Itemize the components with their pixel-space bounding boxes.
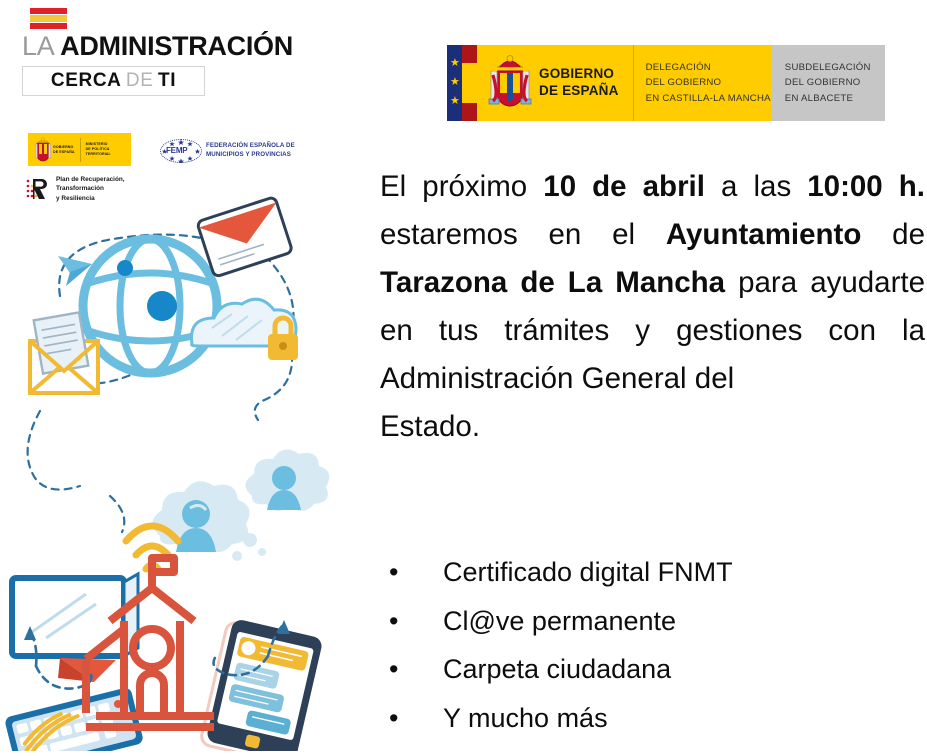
person-bubble-right-icon	[245, 450, 329, 511]
femp-stars-icon: FEMP	[160, 139, 202, 163]
campaign-title-heavy: ADMINISTRACIÓN	[60, 31, 293, 61]
banner-delegacion-text: DELEGACIÓN DEL GOBIERNO EN CASTILLA-LA M…	[646, 60, 771, 107]
tablet-chat-icon	[200, 617, 324, 751]
campaign-subtitle-ti: TI	[158, 70, 176, 92]
banner-delegacion-line1: DELEGACIÓN	[646, 60, 771, 76]
announcement-date: 10 de abril	[543, 170, 705, 203]
list-item: • Cl@ve permanente	[380, 597, 925, 646]
announcement-seg2: a las	[705, 170, 807, 203]
banner-gobierno-text: GOBIERNO DE ESPAÑA	[539, 66, 619, 100]
globe-icon	[83, 239, 217, 373]
femp-acronym: FEMP	[166, 146, 187, 155]
service-label: Certificado digital FNMT	[443, 557, 733, 587]
service-label: Y mucho más	[443, 703, 608, 733]
femp-text: FEDERACIÓN ESPAÑOLA DE MUNICIPIOS Y PROV…	[206, 142, 295, 160]
coat-of-arms-icon	[33, 137, 53, 162]
digital-administration-illustration	[0, 196, 340, 751]
banner-gobierno-panel: GOBIERNO DE ESPAÑA DELEGACIÓN DEL GOBIER…	[477, 45, 771, 121]
announcement-seg4: de	[861, 218, 925, 251]
banner-subdelegacion-text: SUBDELEGACIÓN DEL GOBIERNO EN ALBACETE	[785, 60, 871, 107]
eu-star-1: ★	[450, 59, 459, 68]
coat-of-arms-large-icon	[487, 55, 533, 111]
logo-gobierno-line2: DE ESPAÑA	[53, 150, 75, 155]
campaign-subtitle-box: CERCA DE TI	[22, 66, 205, 96]
spanish-flag-icon	[30, 8, 67, 29]
service-list: • Certificado digital FNMT • Cl@ve perma…	[380, 548, 925, 742]
bullet-icon: •	[389, 548, 398, 597]
spain-red-top	[462, 45, 477, 63]
flag-stripe-yellow	[30, 15, 67, 22]
banner-divider-1	[633, 45, 634, 121]
banner-gobierno-line1: GOBIERNO	[539, 66, 619, 83]
logo-gobierno-text: GOBIERNO DE ESPAÑA	[53, 145, 75, 155]
campaign-subtitle-cerca: CERCA	[51, 70, 122, 92]
person-bubble-left-icon	[152, 481, 249, 552]
logo-gobierno-line1: GOBIERNO	[53, 145, 75, 150]
campaign-title-light: LA	[22, 31, 53, 61]
announcement-text: El próximo 10 de abril a las 10:00 h. es…	[380, 163, 925, 451]
logo-femp: FEMP FEDERACIÓN ESPAÑOLA DE MUNICIPIOS Y…	[160, 138, 300, 164]
logo-ministerio-text: MINISTERIO DE POLÍTICA TERRITORIAL	[86, 142, 126, 157]
right-column: ★ ★ ★	[375, 0, 927, 751]
banner-subdelegacion-panel: SUBDELEGACIÓN DEL GOBIERNO EN ALBACETE	[771, 45, 885, 121]
cloud-lock-icon	[191, 299, 298, 360]
banner-subdelegacion-line1: SUBDELEGACIÓN	[785, 60, 871, 76]
bullet-icon: •	[389, 645, 398, 694]
banner-gobierno-line2: DE ESPAÑA	[539, 83, 619, 100]
announcement-seg1: El próximo	[380, 170, 543, 203]
announcement-time: 10:00 h.	[807, 170, 925, 203]
service-label: Cl@ve permanente	[443, 606, 676, 636]
list-item: • Y mucho más	[380, 694, 925, 743]
femp-line1: FEDERACIÓN ESPAÑOLA DE	[206, 142, 295, 151]
campaign-title: LA ADMINISTRACIÓN	[22, 33, 293, 60]
femp-line2: MUNICIPIOS Y PROVINCIAS	[206, 151, 295, 160]
logo-ministerio-line2: DE POLÍTICA TERRITORIAL	[86, 147, 126, 157]
prtr-line2: Transformación	[56, 184, 125, 194]
eu-star-3: ★	[450, 97, 459, 106]
service-label: Carpeta ciudadana	[443, 654, 671, 684]
announcement-town: Tarazona de La Mancha	[380, 266, 725, 299]
announcement-venue: Ayuntamiento	[666, 218, 862, 251]
announcement-seg6: Estado.	[380, 403, 925, 451]
eu-star-2: ★	[450, 78, 459, 87]
list-item: • Carpeta ciudadana	[380, 645, 925, 694]
flag-stripe-red-top	[30, 8, 67, 14]
logo-divider	[80, 138, 81, 162]
spain-red-bottom	[462, 103, 477, 121]
left-column: LA ADMINISTRACIÓN CERCA DE TI GOBIERNO D…	[0, 0, 375, 751]
bullet-icon: •	[389, 597, 398, 646]
campaign-subtitle-de: DE	[126, 70, 154, 92]
banner-subdelegacion-line2: DEL GOBIERNO	[785, 75, 871, 91]
government-banner: ★ ★ ★	[447, 45, 885, 121]
envelope-red-icon	[197, 197, 293, 278]
bullet-icon: •	[389, 694, 398, 743]
announcement-seg3: estaremos en el	[380, 218, 666, 251]
banner-delegacion-line3: EN CASTILLA-LA MANCHA	[646, 91, 771, 107]
eu-spain-flag-icon: ★ ★ ★	[447, 45, 477, 121]
flag-stripe-red-bottom	[30, 23, 67, 29]
banner-subdelegacion-line3: EN ALBACETE	[785, 91, 871, 107]
logo-gobierno-ministerio: GOBIERNO DE ESPAÑA MINISTERIO DE POLÍTIC…	[28, 133, 131, 166]
prtr-line1: Plan de Recuperación,	[56, 175, 125, 185]
banner-delegacion-line2: DEL GOBIERNO	[646, 75, 771, 91]
list-item: • Certificado digital FNMT	[380, 548, 925, 597]
